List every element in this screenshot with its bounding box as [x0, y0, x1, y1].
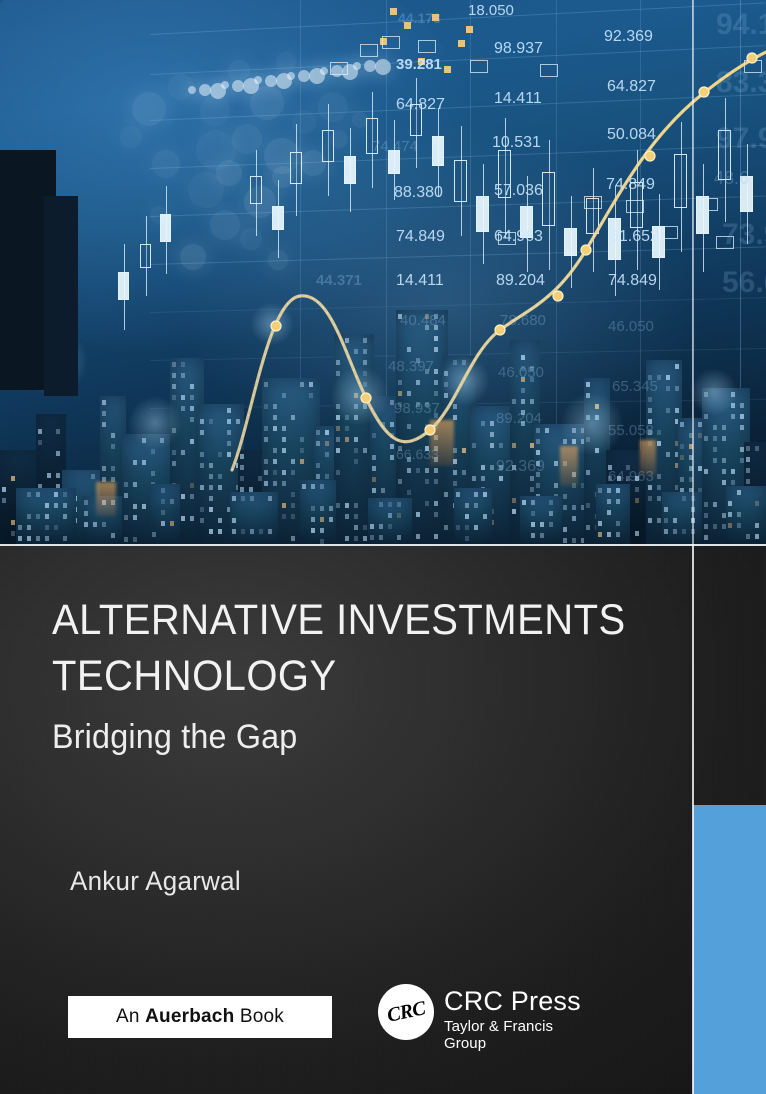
auerbach-brand: Auerbach [145, 1006, 234, 1027]
image-vertical-rule [692, 0, 694, 546]
crc-press-tagline: Taylor & Francis Group [444, 1018, 588, 1052]
auerbach-imprint-logo: An Auerbach Book [68, 996, 332, 1038]
blue-accent-block [693, 805, 766, 1094]
crc-press-logo: CRC CRC Press Taylor & Francis Group [378, 982, 588, 1044]
crc-disc-icon: CRC [378, 984, 434, 1040]
auerbach-suffix: Book [234, 1006, 284, 1027]
author-name: Ankur Agarwal [70, 866, 241, 897]
crc-disc-text: CRC [385, 997, 427, 1028]
panel-vertical-rule [692, 546, 694, 1094]
auerbach-prefix: An [116, 1006, 145, 1027]
page-title: ALTERNATIVE INVESTMENTS TECHNOLOGY [52, 592, 629, 704]
title-line-1: ALTERNATIVE INVESTMENTS [52, 592, 629, 648]
book-cover: 18.05044.17392.36998.93739.28164.82764.8… [0, 0, 766, 1094]
crc-press-name: CRC Press [444, 986, 581, 1017]
title-line-2: TECHNOLOGY [52, 648, 629, 704]
book-subtitle: Bridging the Gap [52, 718, 622, 757]
cover-artwork: 18.05044.17392.36998.93739.28164.82764.8… [0, 0, 766, 546]
auerbach-imprint-text: An Auerbach Book [116, 1006, 284, 1028]
trend-curve [0, 0, 766, 546]
